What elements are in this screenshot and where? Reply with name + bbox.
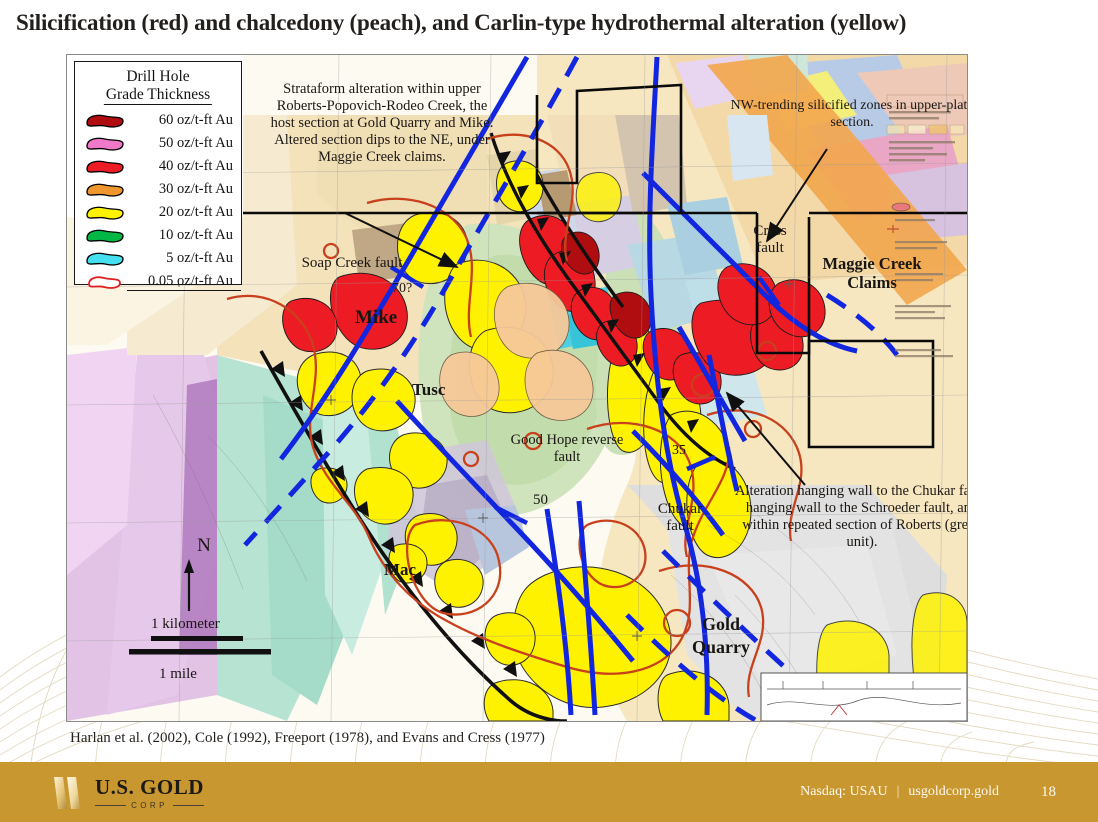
legend-item: 60 oz/t-ft Au (75, 109, 241, 132)
logo-title: U.S. GOLD (95, 777, 204, 798)
legend-item: 5 oz/t-ft Au (75, 247, 241, 270)
legend-label: 5 oz/t-ft Au (127, 250, 241, 267)
legend-panel: Drill Hole Grade Thickness 60 oz/t-ft Au… (74, 61, 242, 285)
legend-item: 50 oz/t-ft Au (75, 132, 241, 155)
legend-label: 40 oz/t-ft Au (127, 158, 241, 175)
page-title: Silicification (red) and chalcedony (pea… (16, 10, 1086, 36)
legend-item: 20 oz/t-ft Au (75, 201, 241, 224)
legend-swatch-50 (83, 134, 127, 153)
legend-swatch-30 (83, 180, 127, 199)
footer-divider: | (897, 784, 900, 800)
legend-swatch-005 (83, 272, 127, 291)
legend-swatch-10 (83, 226, 127, 245)
legend-item: 0.05 oz/t-ft Au (75, 270, 241, 293)
legend-title-line2: Grade Thickness (104, 86, 212, 105)
scale-label-mile: 1 mile (159, 666, 279, 683)
nasdaq-ticker: Nasdaq: USAU (800, 784, 888, 800)
company-logo: U.S. GOLD CORP (52, 774, 204, 812)
logo-subtitle: CORP (131, 801, 168, 810)
logo-subtitle-row: CORP (95, 801, 204, 810)
scale-bars (129, 633, 279, 663)
legend-item: 30 oz/t-ft Au (75, 178, 241, 201)
legend-entry-list: 60 oz/t-ft Au 50 oz/t-ft Au 40 oz/t-ft A… (75, 109, 241, 293)
legend-label: 30 oz/t-ft Au (127, 181, 241, 198)
legend-item: 40 oz/t-ft Au (75, 155, 241, 178)
north-letter: N (129, 535, 279, 557)
legend-label: 50 oz/t-ft Au (127, 135, 241, 152)
legend-label: 0.05 oz/t-ft Au (127, 273, 241, 291)
north-arrow-and-scale: N 1 kilometer 1 mile (129, 535, 279, 683)
logo-mark-icon (52, 775, 86, 811)
page-number: 18 (1041, 784, 1056, 801)
footer-bar: U.S. GOLD CORP Nasdaq: USAU | usgoldcorp… (0, 762, 1098, 822)
logo-rule-right (173, 805, 204, 806)
legend-item: 10 oz/t-ft Au (75, 224, 241, 247)
legend-swatch-5 (83, 249, 127, 268)
footer-info: Nasdaq: USAU | usgoldcorp.gold 18 (800, 762, 1098, 822)
scale-label-kilometer: 1 kilometer (151, 616, 279, 633)
legend-label: 60 oz/t-ft Au (127, 112, 241, 129)
legend-swatch-60 (83, 111, 127, 130)
website-link[interactable]: usgoldcorp.gold (908, 784, 999, 800)
legend-title-line1: Drill Hole (75, 68, 241, 86)
legend-label: 20 oz/t-ft Au (127, 204, 241, 221)
geologic-map: Drill Hole Grade Thickness 60 oz/t-ft Au… (66, 54, 968, 722)
legend-label: 10 oz/t-ft Au (127, 227, 241, 244)
source-caption: Harlan et al. (2002), Cole (1992), Freep… (70, 730, 545, 747)
legend-swatch-40 (83, 157, 127, 176)
legend-swatch-20 (83, 203, 127, 222)
logo-rule-left (95, 805, 126, 806)
north-arrow-icon (129, 557, 279, 613)
